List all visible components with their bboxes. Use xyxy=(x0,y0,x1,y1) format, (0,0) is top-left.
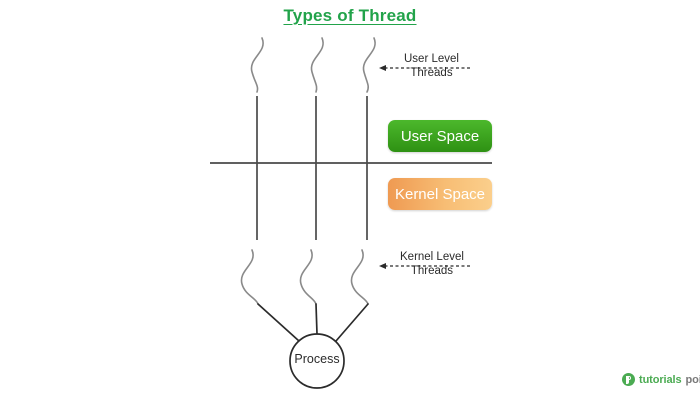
bottom-squiggle-1 xyxy=(241,250,258,304)
kernel-space-badge-label: Kernel Space xyxy=(395,186,485,203)
kernel-level-threads-annotation: Kernel Level Threads xyxy=(400,250,464,278)
user-level-arrow-head xyxy=(379,65,386,71)
user-level-threads-line2: Threads xyxy=(404,66,459,80)
top-squiggle-2 xyxy=(311,38,323,92)
process-node-label: Process xyxy=(289,352,345,366)
logo-text-point: point xyxy=(686,374,700,386)
top-squiggle-1 xyxy=(251,38,263,92)
annotation-arrow-group xyxy=(379,65,470,269)
logo-text-tutorials: tutorials xyxy=(639,374,682,386)
process-edge-right xyxy=(336,304,368,341)
process-edge-middle xyxy=(316,304,317,334)
kernel-space-badge: Kernel Space xyxy=(388,178,492,210)
thread-diagram-graphic xyxy=(0,0,700,400)
top-squiggle-3 xyxy=(363,38,375,92)
bottom-squiggle-group xyxy=(241,250,368,304)
user-space-badge-label: User Space xyxy=(401,128,479,145)
kernel-level-threads-line1: Kernel Level xyxy=(400,250,464,264)
tutorialspoint-logo: tutorials point xyxy=(622,373,700,386)
user-level-threads-annotation: User Level Threads xyxy=(404,52,459,80)
tutorialspoint-logo-icon xyxy=(622,373,635,386)
kernel-level-arrow-head xyxy=(379,263,386,269)
bottom-squiggle-2 xyxy=(300,250,316,304)
user-level-threads-line1: User Level xyxy=(404,52,459,66)
process-edge-left xyxy=(258,304,299,341)
diagram-canvas: Types of Thread xyxy=(0,0,700,400)
user-space-badge: User Space xyxy=(388,120,492,152)
top-squiggle-group xyxy=(251,38,375,92)
kernel-level-threads-line2: Threads xyxy=(400,264,464,278)
bottom-squiggle-3 xyxy=(351,250,368,304)
thread-vertical-group xyxy=(257,96,367,240)
